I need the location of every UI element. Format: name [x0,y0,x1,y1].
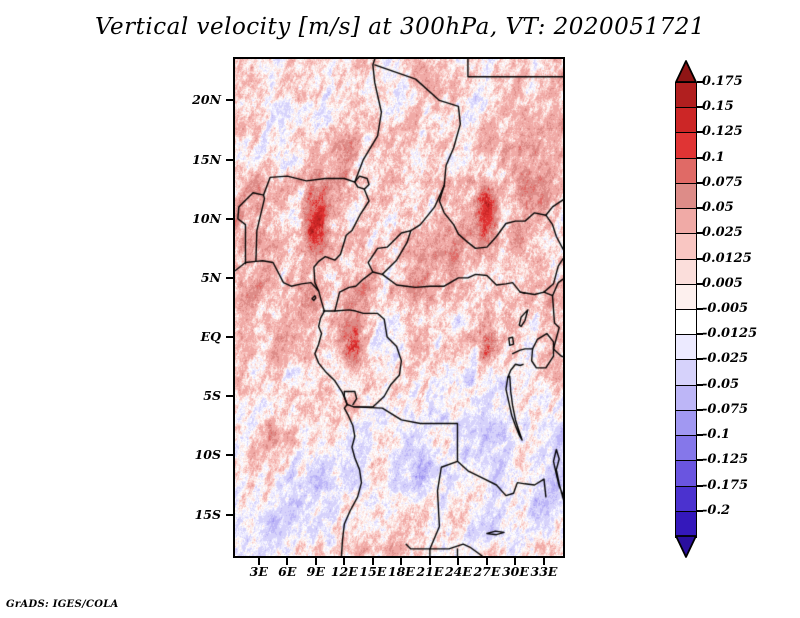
colorbar-tick-mark [697,106,703,108]
colorbar-tick-mark [697,409,703,411]
longitude-tick-mark [457,558,459,565]
longitude-tick-mark [315,558,317,565]
latitude-tick-label: 10N [175,213,221,225]
colorbar-tick-mark [697,485,703,487]
colorbar-tick-mark [697,283,703,285]
colorbar-tick-mark [697,182,703,184]
colorbar-segment [675,284,697,311]
colorbar-tick-mark [697,308,703,310]
footer-credit: GrADS: IGES/COLA [6,599,119,610]
colorbar-segment [675,183,697,210]
latitude-tick-label: EQ [175,331,221,343]
longitude-tick-mark [258,558,260,565]
colorbar-segment [675,410,697,437]
longitude-tick-mark [486,558,488,565]
colorbar-segment [675,82,697,109]
latitude-tick-label: 5N [175,272,221,284]
colorbar-tick-label: -0.175 [702,479,748,492]
colorbar-tick-label: 0.1 [702,151,725,164]
colorbar-tick-mark [697,131,703,133]
colorbar-tick-label: -0.025 [702,352,748,365]
longitude-tick-mark [400,558,402,565]
colorbar-tick-mark [697,333,703,335]
colorbar-segment [675,233,697,260]
latitude-tick-mark [226,454,233,456]
latitude-tick-mark [226,336,233,338]
longitude-tick-mark [514,558,516,565]
latitude-tick-label: 15S [175,509,221,521]
latitude-tick-mark [226,159,233,161]
page-title: Vertical velocity [m/s] at 300hPa, VT: 2… [0,14,800,40]
colorbar-tick-label: -0.075 [702,403,748,416]
colorbar-tick-label: 0.005 [702,277,743,290]
longitude-tick-mark [372,558,374,565]
longitude-tick-mark [429,558,431,565]
latitude-tick-label: 20N [175,94,221,106]
colorbar-tick-label: 0.075 [702,176,743,189]
map-plot-area [233,57,565,558]
colorbar-tick-label: -0.005 [702,302,748,315]
colorbar-tick-mark [697,358,703,360]
latitude-tick-label: 15N [175,154,221,166]
colorbar-segment [675,107,697,134]
latitude-tick-mark [226,277,233,279]
latitude-tick-label: 10S [175,449,221,461]
colorbar-tick-label: -0.05 [702,378,739,391]
colorbar-tick-label: -0.125 [702,453,748,466]
colorbar-tick-label: -0.1 [702,428,730,441]
colorbar-segment [675,486,697,513]
colorbar-tick-label: 0.0125 [702,252,752,265]
colorbar-segment [675,208,697,235]
colorbar-tick-label: 0.15 [702,100,734,113]
colorbar-segment [675,385,697,412]
latitude-tick-mark [226,99,233,101]
colorbar-tick-label: 0.125 [702,125,743,138]
colorbar-tick-mark [697,384,703,386]
latitude-tick-mark [226,218,233,220]
latitude-tick-label: 5S [175,390,221,402]
colorbar-tick-mark [697,258,703,260]
colorbar-segment [675,511,697,538]
colorbar [675,82,697,536]
longitude-tick-label: 33E [524,566,564,578]
colorbar-tick-label: 0.175 [702,75,743,88]
colorbar-segment [675,309,697,336]
longitude-tick-mark [343,558,345,565]
colorbar-segment [675,460,697,487]
colorbar-tick-label: 0.05 [702,201,734,214]
longitude-tick-mark [543,558,545,565]
colorbar-tick-mark [697,434,703,436]
colorbar-segment [675,158,697,185]
colorbar-segment [675,334,697,361]
colorbar-top-arrow [675,60,697,83]
colorbar-segment [675,359,697,386]
colorbar-tick-mark [697,510,703,512]
colorbar-tick-mark [697,207,703,209]
colorbar-tick-label: -0.2 [702,504,730,517]
vertical-velocity-field [235,59,563,556]
colorbar-bottom-arrow [675,535,697,558]
colorbar-tick-label: -0.0125 [702,327,757,340]
colorbar-segment [675,259,697,286]
colorbar-tick-mark [697,157,703,159]
longitude-tick-mark [286,558,288,565]
colorbar-segment [675,132,697,159]
colorbar-tick-mark [697,459,703,461]
colorbar-tick-mark [697,232,703,234]
latitude-tick-mark [226,395,233,397]
colorbar-tick-label: 0.025 [702,226,743,239]
latitude-tick-mark [226,514,233,516]
colorbar-segment [675,435,697,462]
colorbar-tick-mark [697,81,703,83]
